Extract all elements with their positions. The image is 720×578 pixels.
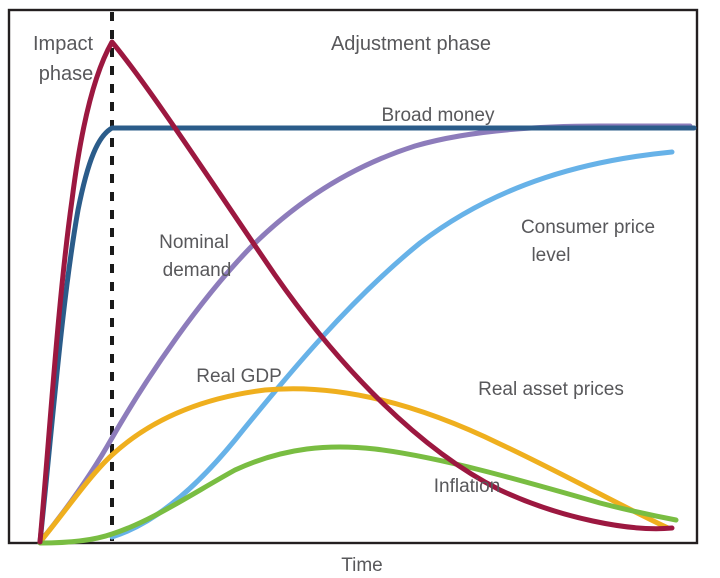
chart-canvas: Impact phase Adjustment phase Broad mone…	[0, 0, 720, 578]
series-label-broad-money: Broad money	[381, 105, 495, 126]
x-axis-label: Time	[341, 555, 383, 576]
adjustment-phase-label: Adjustment phase	[331, 33, 491, 55]
series-label-real-gdp: Real GDP	[196, 366, 282, 387]
series-label-consumer-price-level-line2: level	[531, 245, 570, 266]
monetary-transmission-chart: Impact phase Adjustment phase Broad mone…	[0, 0, 720, 578]
series-label-real-asset-prices: Real asset prices	[478, 379, 624, 400]
series-label-nominal-demand-line2: demand	[163, 260, 232, 281]
series-label-inflation: Inflation	[434, 476, 501, 497]
impact-phase-label-line1: Impact	[33, 33, 93, 55]
series-label-consumer-price-level-line1: Consumer price	[521, 217, 655, 238]
impact-phase-label-line2: phase	[39, 63, 94, 85]
series-label-nominal-demand-line1: Nominal	[159, 232, 229, 253]
